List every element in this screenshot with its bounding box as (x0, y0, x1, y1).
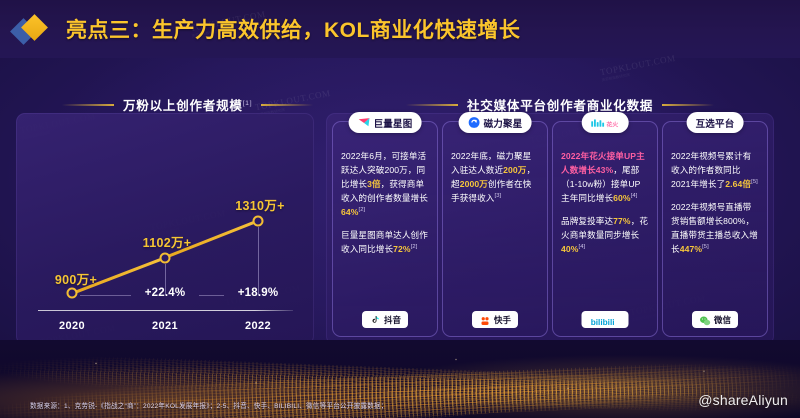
wechat-icon (699, 314, 711, 326)
card-paragraph: 品牌复投率达77%，花火商单数量同步增长40%[4] (561, 215, 649, 257)
card-paragraph: 巨量星图商单达人创作收入同比增长72%[2] (341, 229, 429, 257)
right-section-heading: 社交媒体平台创作者商业化数据 (406, 95, 714, 114)
svg-text:花火: 花火 (606, 120, 618, 128)
left-section-superscript: [1] (243, 100, 253, 107)
chart-data-point (253, 215, 264, 226)
chart-data-point (160, 252, 171, 263)
creator-scale-chart-panel: 202020212022900万+1102万+1310万++22.4%+18.9… (16, 113, 314, 345)
highlight-metric: 40% (561, 244, 579, 254)
cilijuxing-icon (468, 116, 481, 129)
source-reference: [5] (751, 179, 758, 185)
source-reference: [2] (359, 207, 366, 213)
platform-pill-4[interactable]: 互选平台 (687, 112, 744, 133)
heading-rule-left (62, 104, 114, 106)
card-paragraph: 2022年视频号直播带货销售额增长800%，直播带货主播总收入增长447%[5] (671, 201, 759, 257)
source-reference: [4] (631, 193, 638, 199)
platform-pill-3[interactable]: 花火 (582, 112, 629, 133)
card-body-text: 2022年花火接单UP主人数增长43%，尾部（1-10w粉）接单UP主年同比增长… (558, 150, 652, 265)
chart-dropline (258, 227, 259, 295)
line-chart: 202020212022900万+1102万+1310万++22.4%+18.9… (16, 113, 314, 345)
card-paragraph: 2022年视频号累计有收入的作者数同比2021年增长了2.64倍[5] (671, 150, 759, 192)
platform-card[interactable]: 磁力聚星2022年底，磁力聚星入驻达人数近200万，超2000万创作者在快手获得… (442, 121, 548, 337)
platform-monetization-panel: 巨量星图2022年6月，可接单活跃达人突破200万，同比增长3倍，获得商单收入的… (326, 113, 774, 345)
platform-card[interactable]: 互选平台2022年视频号累计有收入的作者数同比2021年增长了2.64倍[5]2… (662, 121, 768, 337)
highlight-metric: 2000万 (460, 179, 488, 189)
chart-x-tick-2020: 2020 (59, 320, 85, 332)
highlight-metric: 447% (680, 244, 702, 254)
brand-chip-4[interactable]: 微信 (692, 311, 738, 328)
highlight-metric: 2.64倍 (725, 179, 751, 189)
card-body-text: 2022年视频号累计有收入的作者数同比2021年增长了2.64倍[5]2022年… (668, 150, 762, 265)
platform-pill-1[interactable]: 巨量星图 (349, 112, 422, 133)
card-body-text: 2022年6月，可接单活跃达人突破200万，同比增长3倍，获得商单收入的创作者数… (338, 150, 432, 265)
highlight-metric: 200万 (503, 165, 526, 175)
highlight-metric: 64% (341, 207, 359, 217)
chart-growth-label: +18.9% (238, 287, 279, 299)
chart-value-label: 1310万+ (235, 195, 284, 214)
platform-name: 磁力聚星 (484, 116, 523, 130)
platform-card[interactable]: 花火2022年花火接单UP主人数增长43%，尾部（1-10w粉）接单UP主年同比… (552, 121, 658, 337)
highlight-metric: 3倍 (367, 179, 381, 189)
highlight-metric: 43% (596, 165, 614, 175)
left-section-title: 万粉以上创作者规模[1] (123, 95, 252, 114)
heading-rule-right (261, 104, 313, 106)
chart-x-tick-2022: 2022 (245, 320, 271, 332)
brand-chip-2[interactable]: 快手 (472, 311, 518, 328)
card-body-text: 2022年底，磁力聚星入驻达人数近200万，超2000万创作者在快手获得收入[3… (448, 150, 542, 215)
highlight-metric: 60% (613, 193, 631, 203)
chart-x-axis (38, 310, 293, 312)
left-section-heading: 万粉以上创作者规模[1] (62, 95, 313, 114)
platform-pill-2[interactable]: 磁力聚星 (459, 112, 532, 133)
heading-rule-right (662, 104, 714, 106)
bilibili-icon: bilibili (589, 314, 622, 326)
source-reference: [2] (411, 244, 418, 250)
douyin-icon (369, 314, 381, 326)
kuaishou-icon (479, 314, 491, 326)
footer-source-note: 数据来源：1、克劳锐-《指战之“商”：2022年KOL发展年报》；2-5、抖音、… (30, 400, 388, 410)
author-signature: @shareAliyun (698, 392, 788, 408)
source-reference: [5] (702, 244, 709, 250)
card-paragraph: 2022年6月，可接单活跃达人突破200万，同比增长3倍，获得商单收入的创作者数… (341, 150, 429, 220)
platform-card[interactable]: 巨量星图2022年6月，可接单活跃达人突破200万，同比增长3倍，获得商单收入的… (332, 121, 438, 337)
chart-value-label: 1102万+ (143, 232, 192, 251)
diamond-ornament-icon (14, 15, 60, 45)
card-paragraph: 2022年花火接单UP主人数增长43%，尾部（1-10w粉）接单UP主年同比增长… (561, 150, 649, 206)
brand-label: 微信 (714, 314, 731, 326)
chart-value-label: 900万+ (55, 269, 97, 288)
chart-growth-connector (80, 295, 131, 296)
highlight-metric: 77% (613, 216, 631, 226)
chart-data-point (67, 288, 78, 299)
brand-chip-3[interactable]: bilibili (582, 311, 629, 328)
platform-name: 互选平台 (696, 116, 735, 130)
body-text: 品牌复投率达 (561, 216, 613, 226)
highlight-metric: 72% (393, 244, 411, 254)
bilibili-huahuo-icon: 花火 (591, 116, 620, 129)
svg-text:bilibili: bilibili (591, 317, 615, 326)
chart-x-tick-2021: 2021 (152, 320, 178, 332)
heading-rule-left (406, 104, 458, 106)
page-title: 亮点三：生产力高效供给，KOL商业化快速增长 (66, 14, 520, 44)
source-reference: [3] (494, 193, 501, 199)
juliangxingtu-icon (358, 116, 371, 129)
chart-growth-connector (199, 295, 224, 296)
brand-label: 抖音 (384, 314, 401, 326)
platform-card-list: 巨量星图2022年6月，可接单活跃达人突破200万，同比增长3倍，获得商单收入的… (326, 113, 774, 345)
platform-name: 巨量星图 (374, 116, 413, 130)
source-reference: [4] (579, 244, 586, 250)
card-paragraph: 2022年底，磁力聚星入驻达人数近200万，超2000万创作者在快手获得收入[3… (451, 150, 539, 206)
brand-label: 快手 (494, 314, 511, 326)
chart-growth-label: +22.4% (145, 287, 186, 299)
brand-chip-1[interactable]: 抖音 (362, 311, 408, 328)
